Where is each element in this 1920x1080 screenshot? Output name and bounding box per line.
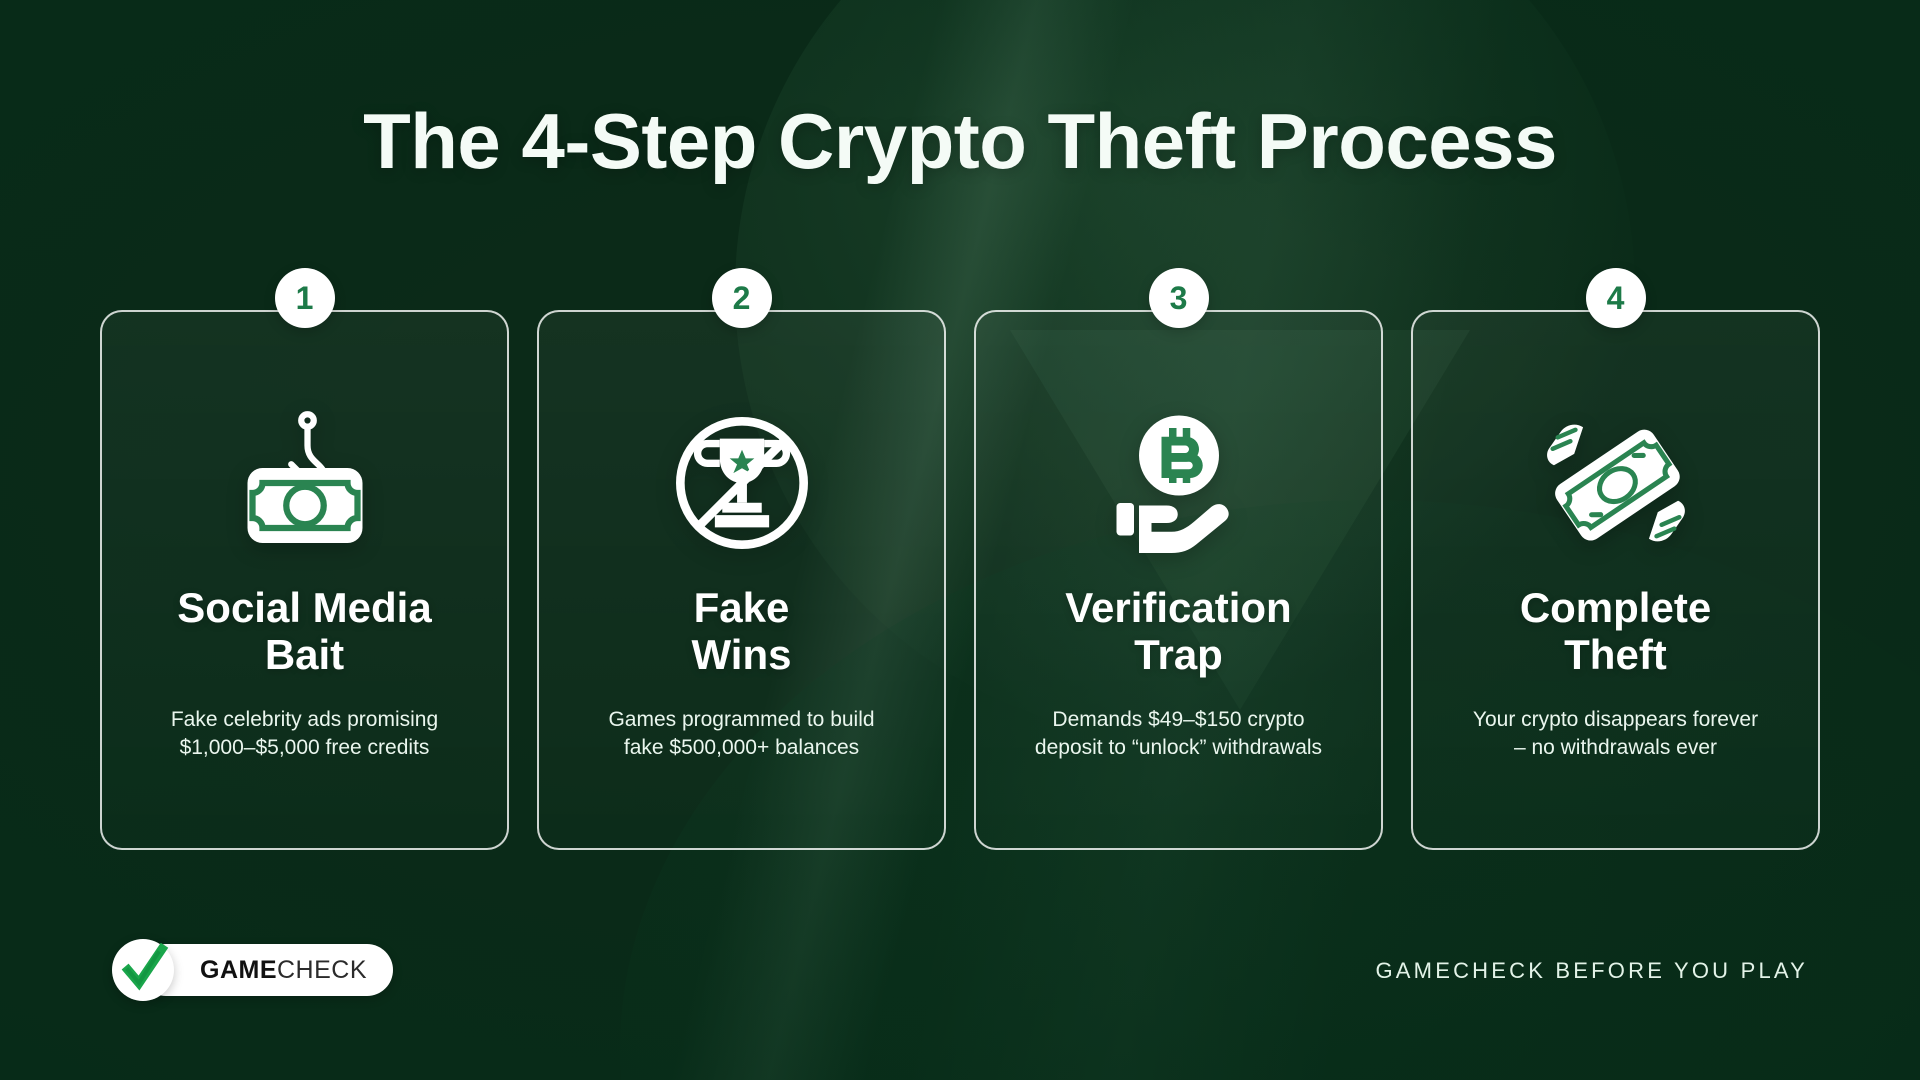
step-description-3: Demands $49–$150 crypto deposit to “unlo… — [1035, 706, 1322, 763]
step-title-2: Fake Wins — [692, 584, 792, 678]
brand-name-bold: GAME — [200, 956, 277, 985]
step-description-4: Your crypto disappears forever – no with… — [1473, 706, 1758, 763]
step-card-4: 4 — [1411, 310, 1820, 850]
footer-tagline: GAMECHECK BEFORE YOU PLAY — [1376, 958, 1809, 984]
checkmark-icon — [112, 939, 174, 1001]
brand-logo-wordmark: GAME CHECK — [140, 944, 393, 996]
step-number-badge-1: 1 — [275, 268, 335, 328]
money-phishing-hook-icon — [230, 408, 380, 558]
brand-logo[interactable]: GAME CHECK — [112, 942, 393, 998]
step-number-badge-2: 2 — [712, 268, 772, 328]
no-trophy-icon — [668, 408, 816, 558]
step-number-badge-4: 4 — [1586, 268, 1646, 328]
page-title: The 4-Step Crypto Theft Process — [0, 96, 1920, 187]
steps-container: 1 Social Media Bait Fake celebrity ads p… — [100, 310, 1820, 850]
flying-money-icon — [1540, 408, 1692, 558]
step-description-2: Games programmed to build fake $500,000+… — [608, 706, 874, 763]
brand-name-light: CHECK — [277, 956, 367, 985]
step-card-2: 2 Fake Wins Games programme — [537, 310, 946, 850]
step-card-1: 1 Social Media Bait Fake celebrity ads p… — [100, 310, 509, 850]
infographic-canvas: The 4-Step Crypto Theft Process 1 Social… — [0, 0, 1920, 1080]
bitcoin-hand-icon — [1104, 408, 1254, 558]
step-number-badge-3: 3 — [1149, 268, 1209, 328]
step-title-1: Social Media Bait — [177, 584, 431, 678]
step-title-4: Complete Theft — [1520, 584, 1711, 678]
step-description-1: Fake celebrity ads promising $1,000–$5,0… — [171, 706, 438, 763]
step-title-3: Verification Trap — [1065, 584, 1291, 678]
step-card-3: 3 V — [974, 310, 1383, 850]
